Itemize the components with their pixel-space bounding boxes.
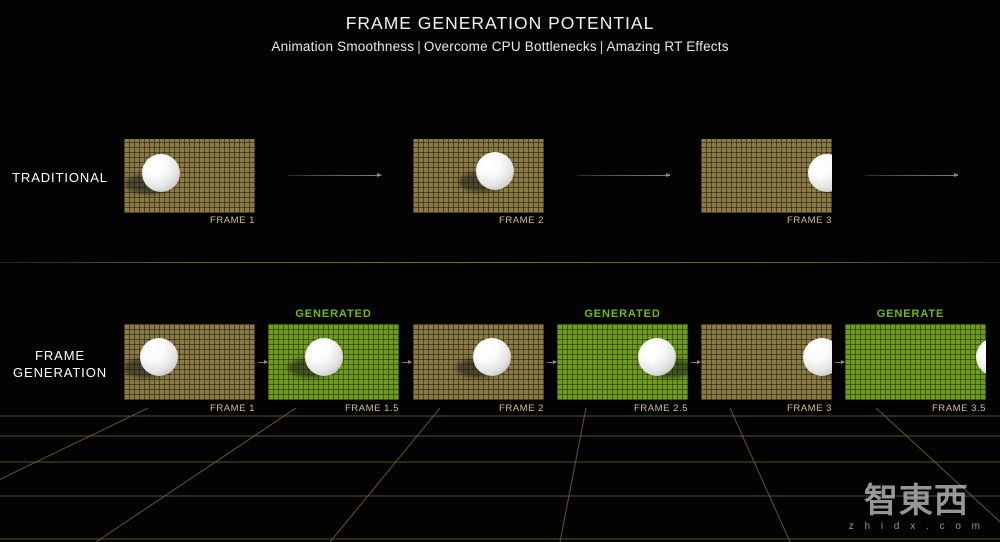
arrow-gen-1-to-1-5 — [258, 362, 267, 363]
watermark: 智東西 z h i d x . c o m — [849, 482, 984, 532]
arrow-traditional-3-to-next — [865, 175, 958, 176]
frame-caption-gen-3: FRAME 3 — [701, 403, 832, 414]
row-divider — [0, 262, 1000, 263]
frame-gen-2-5 — [557, 324, 688, 400]
ball — [808, 154, 832, 192]
frame-traditional-2 — [413, 139, 544, 213]
subtitle-part-2: Overcome CPU Bottlenecks — [424, 39, 597, 54]
ball — [142, 154, 180, 192]
subtitle-part-1: Animation Smoothness — [271, 39, 414, 54]
arrow-traditional-1-to-2 — [288, 175, 381, 176]
frame-traditional-3 — [701, 139, 832, 213]
row-label-traditional: TRADITIONAL — [0, 169, 120, 186]
ball — [976, 338, 986, 376]
frame-gen-3 — [701, 324, 832, 400]
arrow-traditional-2-to-3 — [577, 175, 670, 176]
frame-gen-1-5 — [268, 324, 399, 400]
ball — [803, 338, 832, 376]
frame-caption-traditional-3: FRAME 3 — [701, 215, 832, 226]
frame-caption-gen-3-5: FRAME 3.5 — [845, 403, 986, 414]
row-label-frame-generation: FRAME GENERATION — [0, 347, 120, 381]
ball — [476, 152, 514, 190]
ball — [140, 338, 178, 376]
subtitle-separator-1: | — [414, 39, 424, 54]
frame-caption-gen-2: FRAME 2 — [413, 403, 544, 414]
watermark-logo-en: z h i d x . c o m — [849, 521, 984, 532]
frame-gen-1 — [124, 324, 255, 400]
frame-caption-gen-2-5: FRAME 2.5 — [557, 403, 688, 414]
ball — [638, 338, 676, 376]
slide-canvas: FRAME GENERATION POTENTIAL Animation Smo… — [0, 0, 1000, 542]
frame-traditional-1 — [124, 139, 255, 213]
header: FRAME GENERATION POTENTIAL Animation Smo… — [0, 12, 1000, 56]
frame-caption-gen-1-5: FRAME 1.5 — [268, 403, 399, 414]
ball — [473, 338, 511, 376]
perspective-floor-grid — [0, 408, 1000, 542]
ball — [305, 338, 343, 376]
frame-caption-gen-1: FRAME 1 — [124, 403, 255, 414]
arrow-gen-2-to-2-5 — [547, 362, 556, 363]
arrow-gen-3-to-3-5 — [835, 362, 844, 363]
page-subtitle: Animation Smoothness|Overcome CPU Bottle… — [0, 38, 1000, 56]
watermark-logo-cn: 智東西 — [849, 482, 984, 520]
page-title: FRAME GENERATION POTENTIAL — [0, 12, 1000, 34]
frame-caption-traditional-1: FRAME 1 — [124, 215, 255, 226]
generated-tag-1: GENERATED — [268, 308, 399, 320]
generated-tag-2: GENERATED — [557, 308, 688, 320]
subtitle-part-3: Amazing RT Effects — [606, 39, 728, 54]
arrow-gen-2-5-to-3 — [691, 362, 700, 363]
frame-caption-traditional-2: FRAME 2 — [413, 215, 544, 226]
arrow-gen-1-5-to-2 — [402, 362, 411, 363]
generated-tag-3: GENERATE — [845, 308, 976, 320]
floor-grid-svg — [0, 408, 1000, 542]
frame-gen-3-5 — [845, 324, 986, 400]
frame-gen-2 — [413, 324, 544, 400]
